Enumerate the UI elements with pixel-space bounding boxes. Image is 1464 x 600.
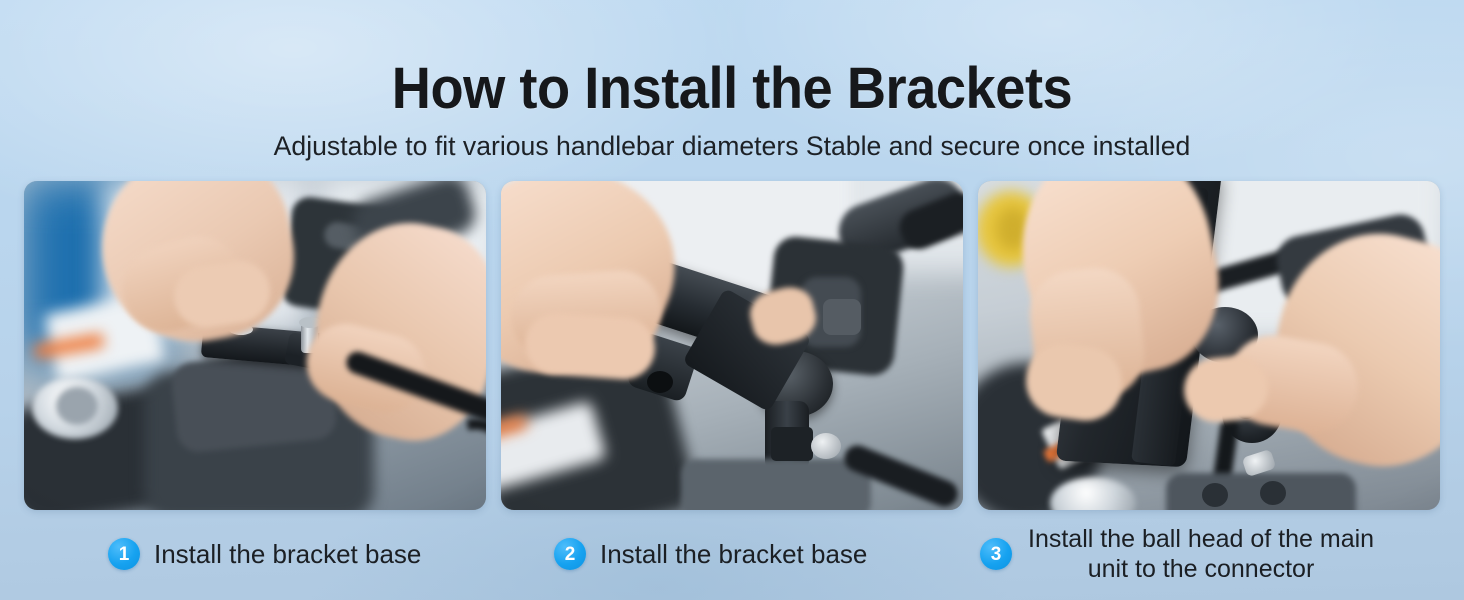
step-caption-1: 1 Install the bracket base [108,518,508,590]
step-caption-2: 2 Install the bracket base [554,518,974,590]
page-subtitle: Adjustable to fit various handlebar diam… [11,130,1453,162]
photo-3-scene [978,181,1440,510]
step-caption-text-1: Install the bracket base [154,539,421,570]
step-caption-3: 3 Install the ball head of the main unit… [980,518,1450,590]
step-badge-3: 3 [980,538,1012,570]
banner-header: How to Install the Brackets Adjustable t… [0,58,1464,162]
photo-2-scene [501,181,963,510]
step-badge-1: 1 [108,538,140,570]
page-title: How to Install the Brackets [48,58,1417,120]
photo-row [24,181,1440,510]
photo-1-scene [24,181,486,510]
step-caption-text-2: Install the bracket base [600,539,867,570]
step-photo-3[interactable] [978,181,1440,510]
step-photo-2[interactable] [501,181,963,510]
step-badge-2: 2 [554,538,586,570]
step-photo-1[interactable] [24,181,486,510]
promo-banner: How to Install the Brackets Adjustable t… [0,0,1464,600]
step-caption-text-3: Install the ball head of the main unit t… [1028,524,1374,584]
caption-row: 1 Install the bracket base 2 Install the… [24,518,1440,590]
